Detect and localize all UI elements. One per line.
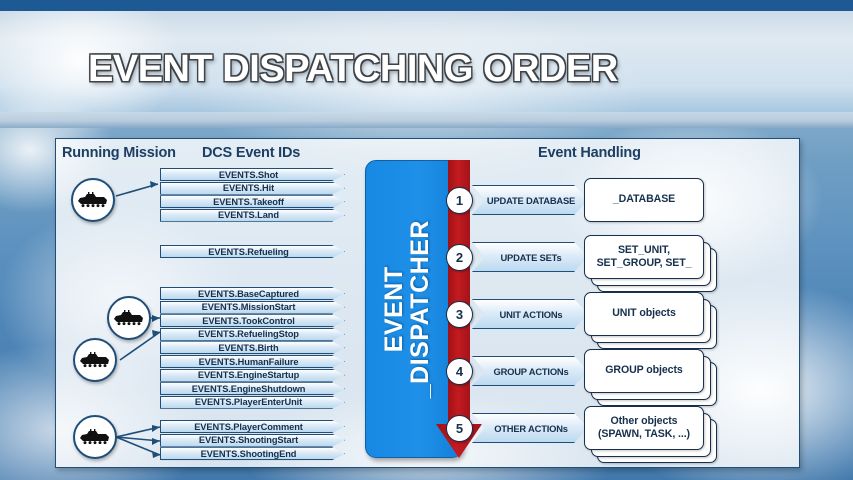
step-action-chevron[interactable]: UPDATE DATABASE <box>472 185 588 215</box>
event-id-label: EVENTS.PlayerEnterUnit <box>195 397 302 407</box>
step-result-card[interactable]: _DATABASE <box>584 178 704 222</box>
event-id-pill[interactable]: EVENTS.Land <box>160 209 345 222</box>
event-id-label: EVENTS.Hit <box>223 183 274 193</box>
event-id-pill[interactable]: EVENTS.EngineShutdown <box>160 382 345 395</box>
event-id-label: EVENTS.PlayerComment <box>194 422 303 432</box>
header-divider-band <box>0 112 853 128</box>
unit-icon-4[interactable] <box>73 415 117 459</box>
slide-canvas: EVENT DISPATCHING ORDER Running Mission … <box>0 0 853 480</box>
step-result-card[interactable]: UNIT objects <box>584 292 704 336</box>
step-result-label: GROUP objects <box>605 364 682 377</box>
step-action-chevron[interactable]: UPDATE SETs <box>472 242 588 272</box>
column-header-dcs-event-ids: DCS Event IDs <box>202 145 300 161</box>
unit-icon-1[interactable] <box>71 178 115 222</box>
event-id-pill[interactable]: EVENTS.PlayerEnterUnit <box>160 396 345 409</box>
event-id-pill[interactable]: EVENTS.MissionStart <box>160 301 345 314</box>
event-id-label: EVENTS.Takeoff <box>213 197 284 207</box>
event-id-label: EVENTS.ShootingEnd <box>201 449 297 459</box>
step-action-chevron[interactable]: GROUP ACTIONs <box>472 356 588 386</box>
armored-vehicle-icon <box>80 429 110 446</box>
event-id-pill[interactable]: EVENTS.Birth <box>160 341 345 354</box>
step-number-badge: 2 <box>446 244 473 271</box>
step-result-card[interactable]: GROUP objects <box>584 349 704 393</box>
step-action-label: OTHER ACTIONs <box>494 423 568 434</box>
step-number-label: 3 <box>456 307 463 322</box>
event-id-label: EVENTS.Shot <box>219 170 278 180</box>
step-result-label: Other objects(SPAWN, TASK, ...) <box>598 415 690 441</box>
event-id-pill[interactable]: EVENTS.ShootingEnd <box>160 447 345 460</box>
event-id-pill[interactable]: EVENTS.EngineStartup <box>160 369 345 382</box>
column-header-event-handling: Event Handling <box>538 145 641 161</box>
event-id-label: EVENTS.Refueling <box>208 247 289 257</box>
step-result-label: UNIT objects <box>612 307 676 320</box>
event-id-label: EVENTS.BaseCaptured <box>198 289 299 299</box>
event-id-label: EVENTS.RefuelingStop <box>198 329 299 339</box>
event-id-pill[interactable]: EVENTS.RefuelingStop <box>160 328 345 341</box>
step-result-card-stack[interactable]: SET_UNIT,SET_GROUP, SET_ <box>584 235 704 279</box>
page-title: EVENT DISPATCHING ORDER <box>88 48 618 91</box>
step-result-card-stack[interactable]: Other objects(SPAWN, TASK, ...) <box>584 406 704 450</box>
step-action-chevron[interactable]: UNIT ACTIONs <box>472 299 588 329</box>
step-number-badge: 1 <box>446 187 473 214</box>
event-id-pill[interactable]: EVENTS.Takeoff <box>160 195 345 208</box>
step-number-label: 2 <box>456 250 463 265</box>
step-result-card-stack[interactable]: _DATABASE <box>584 178 704 222</box>
column-header-running-mission: Running Mission <box>62 145 176 161</box>
step-result-card-stack[interactable]: GROUP objects <box>584 349 704 393</box>
step-number-badge: 4 <box>446 358 473 385</box>
step-action-chevron[interactable]: OTHER ACTIONs <box>472 413 588 443</box>
unit-icon-3[interactable] <box>73 338 117 382</box>
armored-vehicle-icon <box>114 310 144 327</box>
event-id-label: EVENTS.Land <box>218 210 279 220</box>
event-id-pill[interactable]: EVENTS.Refueling <box>160 245 345 258</box>
step-action-label: UNIT ACTIONs <box>500 309 563 320</box>
step-action-label: UPDATE DATABASE <box>487 195 575 206</box>
event-id-pill[interactable]: EVENTS.Shot <box>160 168 345 181</box>
event-id-pill[interactable]: EVENTS.ShootingStart <box>160 434 345 447</box>
step-result-card[interactable]: SET_UNIT,SET_GROUP, SET_ <box>584 235 704 279</box>
armored-vehicle-icon <box>80 352 110 369</box>
top-accent-band <box>0 0 853 11</box>
event-id-label: EVENTS.Birth <box>218 343 278 353</box>
event-id-label: EVENTS.EngineStartup <box>198 370 299 380</box>
step-action-label: UPDATE SETs <box>500 252 561 263</box>
step-result-card[interactable]: Other objects(SPAWN, TASK, ...) <box>584 406 704 450</box>
event-id-label: EVENTS.MissionStart <box>202 302 296 312</box>
step-result-label: _DATABASE <box>613 193 675 206</box>
event-id-label: EVENTS.HumanFailure <box>199 357 299 367</box>
event-id-pill[interactable]: EVENTS.BaseCaptured <box>160 287 345 300</box>
step-number-label: 4 <box>456 364 463 379</box>
event-id-label: EVENTS.ShootingStart <box>199 435 298 445</box>
unit-icon-2[interactable] <box>107 296 151 340</box>
event-id-label: EVENTS.EngineShutdown <box>192 384 306 394</box>
step-result-card-stack[interactable]: UNIT objects <box>584 292 704 336</box>
step-number-badge: 3 <box>446 301 473 328</box>
step-number-badge: 5 <box>446 415 473 442</box>
event-id-label: EVENTS.TookControl <box>202 316 295 326</box>
event-id-pill[interactable]: EVENTS.HumanFailure <box>160 355 345 368</box>
event-id-pill[interactable]: EVENTS.Hit <box>160 182 345 195</box>
step-result-label: SET_UNIT,SET_GROUP, SET_ <box>597 244 692 270</box>
step-number-label: 1 <box>456 193 463 208</box>
armored-vehicle-icon <box>78 192 108 209</box>
step-number-label: 5 <box>456 421 463 436</box>
event-id-pill[interactable]: EVENTS.TookControl <box>160 314 345 327</box>
step-action-label: GROUP ACTIONs <box>493 366 568 377</box>
event-id-pill[interactable]: EVENTS.PlayerComment <box>160 420 345 433</box>
